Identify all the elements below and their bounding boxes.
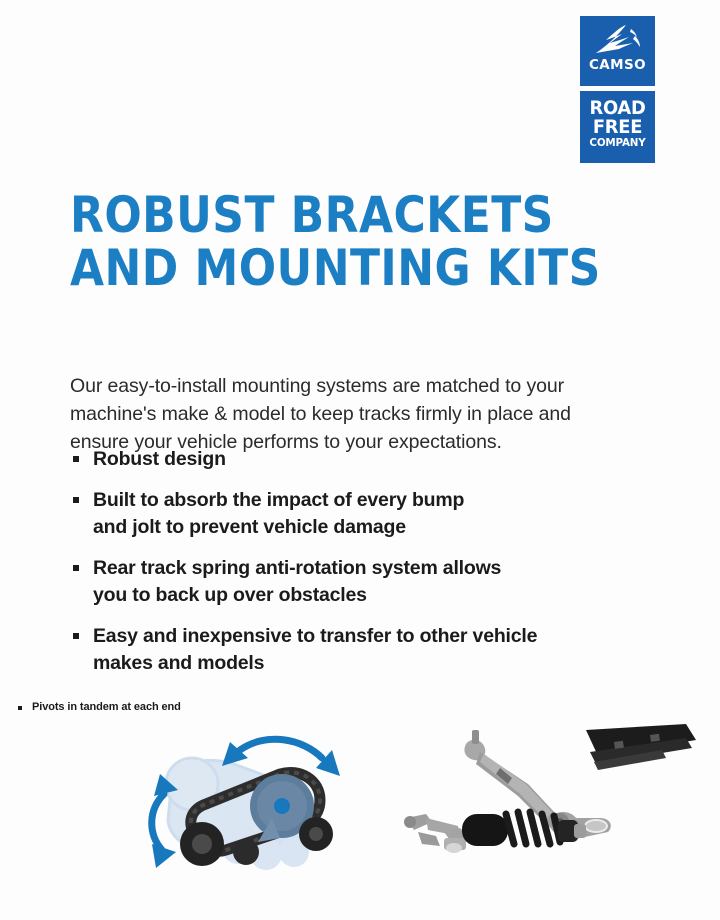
feature-text: Built to absorb the impact of every bump… <box>93 487 640 541</box>
feature-line: Easy and inexpensive to transfer to othe… <box>93 623 640 650</box>
feature-line: Robust design <box>93 446 640 473</box>
feature-line: Rear track spring anti-rotation system a… <box>93 555 640 582</box>
camso-logo-badge: CAMSO <box>580 16 655 86</box>
square-bullet-icon <box>18 706 22 710</box>
list-item: Rear track spring anti-rotation system a… <box>70 555 640 609</box>
illustration-row <box>0 722 720 907</box>
rubber-track-system-pivot-diagram <box>130 722 390 902</box>
intro-paragraph: Our easy-to-install mounting systems are… <box>70 372 630 456</box>
road-free-company-badge: ROAD FREE COMPANY <box>580 91 655 163</box>
top-pivot-double-arrow <box>240 739 322 758</box>
feature-line: Built to absorb the impact of every bump <box>93 487 640 514</box>
list-item: Robust design <box>70 446 640 473</box>
footnote-text: Pivots in tandem at each end <box>32 701 181 713</box>
page-title: ROBUST BRACKETS AND MOUNTING KITS <box>70 189 590 295</box>
feature-line: you to back up over obstacles <box>93 582 640 609</box>
left-pivot-double-arrow <box>152 794 164 850</box>
feature-text: Rear track spring anti-rotation system a… <box>93 555 640 609</box>
road-free-company-tagline: ROAD FREE COMPANY <box>580 99 655 149</box>
tagline-line-company: COMPANY <box>582 138 653 149</box>
footnote: Pivots in tandem at each end <box>18 701 181 713</box>
mounting-bracket-parts-photo <box>400 722 700 892</box>
feature-text: Robust design <box>93 446 640 473</box>
camso-mountain-chevron-icon <box>590 23 646 57</box>
square-bullet-icon <box>73 633 79 639</box>
feature-list: Robust design Built to absorb the impact… <box>70 446 640 691</box>
square-bullet-icon <box>73 456 79 462</box>
square-bullet-icon <box>73 565 79 571</box>
tagline-line-free: FREE <box>582 118 653 137</box>
list-item: Easy and inexpensive to transfer to othe… <box>70 623 640 677</box>
feature-line: makes and models <box>93 650 640 677</box>
headline-line-1: ROBUST BRACKETS <box>70 189 528 242</box>
list-item: Built to absorb the impact of every bump… <box>70 487 640 541</box>
headline-line-2: AND MOUNTING KITS <box>70 242 528 295</box>
brand-logo-stack: CAMSO ROAD FREE COMPANY <box>580 16 655 163</box>
square-bullet-icon <box>73 497 79 503</box>
feature-line: and jolt to prevent vehicle damage <box>93 514 640 541</box>
mounting-bracket-rail <box>586 724 696 770</box>
camso-wordmark: CAMSO <box>580 59 655 73</box>
feature-text: Easy and inexpensive to transfer to othe… <box>93 623 640 677</box>
